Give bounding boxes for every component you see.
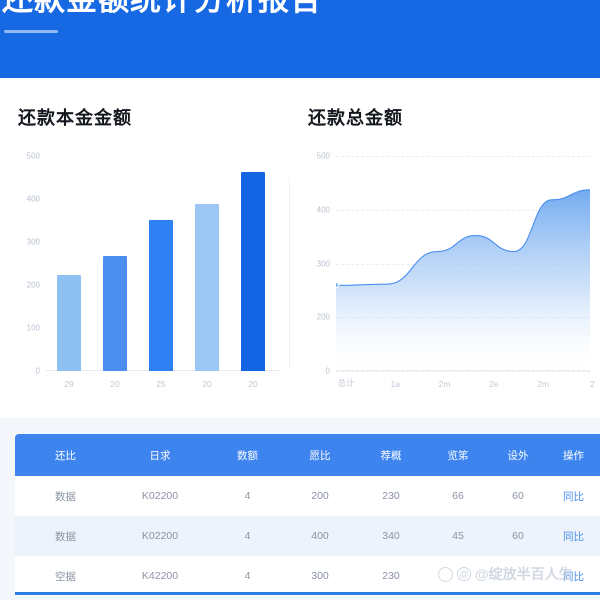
area-x-tick: 总计	[337, 377, 354, 389]
table-action-link[interactable]: 同比	[547, 569, 600, 584]
area-y-tick: 200	[300, 313, 330, 322]
area-chart-title: 还款总金额	[308, 104, 590, 130]
table-cell: 200	[285, 490, 355, 502]
bar-x-tick: 20	[248, 379, 257, 389]
table-header-row: 还比日求数额愿比荐概览笫设外操作	[15, 434, 600, 476]
area-x-tick: 2	[590, 379, 595, 389]
table-cell: 60	[489, 490, 547, 502]
bar-y-tick: 200	[10, 281, 40, 290]
area-chart-svg	[336, 148, 590, 371]
table-row[interactable]: 数据K0220044003404560同比	[15, 516, 600, 556]
bar-y-tick: 500	[10, 152, 40, 161]
table-cell: K02200	[110, 530, 210, 542]
table-header-cell[interactable]: 日求	[110, 448, 210, 463]
data-table: 还比日求数额愿比荐概览笫设外操作 数据K0220042002306660同比数据…	[15, 434, 600, 596]
area-x-tick: 2e	[489, 379, 498, 389]
bar[interactable]	[149, 220, 173, 371]
table-cell: 400	[285, 530, 355, 542]
bar-x-tick: 25	[156, 379, 165, 389]
table-cell: 300	[285, 570, 355, 582]
bar-y-tick: 300	[10, 238, 40, 247]
bar-slot	[92, 148, 138, 371]
bar-x-tick: 20	[202, 379, 211, 389]
area-fill-path	[336, 190, 590, 371]
table-cell: 数据	[15, 529, 110, 544]
bar[interactable]	[195, 204, 219, 371]
table-header-cell[interactable]: 操作	[547, 448, 600, 463]
table-cell: 45	[427, 530, 489, 542]
area-y-tick: 400	[300, 205, 330, 214]
bar-x-tick: 29	[64, 379, 73, 389]
table-row[interactable]: 空据K422004300230同比	[15, 556, 600, 596]
table-row[interactable]: 数据K0220042002306660同比	[15, 476, 600, 516]
card-bar-chart: 还款本金金额 5004003002001000 2920252020	[0, 78, 290, 418]
bar-y-tick: 0	[10, 367, 40, 376]
table-action-link[interactable]: 同比	[547, 529, 600, 544]
bar[interactable]	[57, 275, 81, 371]
table-header-cell[interactable]: 还比	[15, 448, 110, 463]
bar[interactable]	[241, 172, 265, 371]
table-cell: 4	[210, 530, 285, 542]
table-header-cell[interactable]: 荐概	[355, 448, 427, 463]
bar-chart-title: 还款本金金额	[18, 104, 280, 130]
page-title: 还款金额统计分析报告	[0, 0, 600, 19]
table-header-cell[interactable]: 数额	[210, 448, 285, 463]
table-cell: 4	[210, 490, 285, 502]
area-y-tick: 300	[300, 259, 330, 268]
bar-chart-bars	[46, 148, 276, 371]
bar[interactable]	[103, 256, 127, 371]
area-x-tick: 1a	[391, 379, 400, 389]
table-cell: K42200	[110, 570, 210, 582]
area-gridline	[336, 371, 590, 372]
area-y-tick: 0	[300, 367, 330, 376]
table-cell: 66	[427, 490, 489, 502]
table-cell: 60	[489, 530, 547, 542]
table-cell: 230	[355, 570, 427, 582]
bar-slot	[184, 148, 230, 371]
table-cell: 340	[355, 530, 427, 542]
page-header: 还款金额统计分析报告	[0, 0, 600, 78]
table-cell: 数据	[15, 489, 110, 504]
table-cell: K02200	[110, 490, 210, 502]
title-accent-bar	[4, 30, 58, 33]
table-body: 数据K0220042002306660同比数据K0220044003404560…	[15, 476, 600, 596]
table-header-cell[interactable]: 愿比	[285, 448, 355, 463]
bar-slot	[230, 148, 276, 371]
area-x-tick: 2m	[537, 379, 549, 389]
bar-y-tick: 100	[10, 324, 40, 333]
table-header-cell[interactable]: 览笫	[427, 448, 489, 463]
bar-chart-plot: 5004003002001000 2920252020	[10, 148, 280, 393]
bar-slot	[138, 148, 184, 371]
table-cell: 4	[210, 570, 285, 582]
area-chart-plot: 5004003002000 总计1a2m2e2m	[300, 148, 590, 393]
bar-x-tick: 20	[110, 379, 119, 389]
area-x-tick: 2m	[439, 379, 451, 389]
bar-y-tick: 400	[10, 195, 40, 204]
charts-container: 还款本金金额 5004003002001000 2920252020 还款总金额…	[0, 78, 600, 418]
table-cell: 空据	[15, 569, 110, 584]
table-cell: 230	[355, 490, 427, 502]
area-y-tick: 500	[300, 152, 330, 161]
table-bottom-border	[15, 592, 600, 595]
table-action-link[interactable]: 同比	[547, 489, 600, 504]
area-chart-series	[336, 148, 590, 371]
bar-slot	[46, 148, 92, 371]
card-area-chart: 还款总金额 5004003002000	[290, 78, 600, 418]
table-header-cell[interactable]: 设外	[489, 448, 547, 463]
